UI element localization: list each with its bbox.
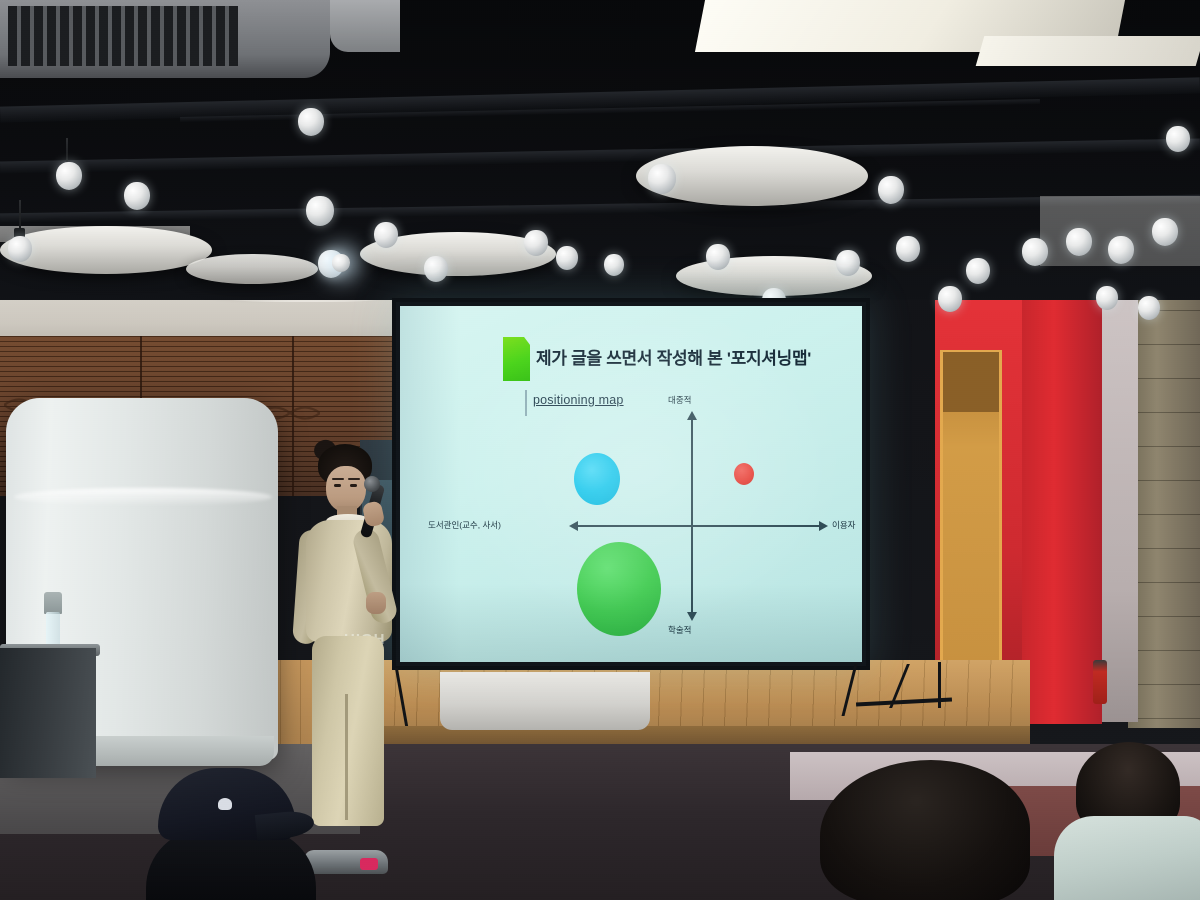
eyebrow (348, 478, 360, 480)
screen-leg (938, 662, 941, 708)
audience-cap-person (140, 768, 330, 900)
pendant-bulb (706, 244, 730, 270)
air-conditioner-vent (0, 0, 330, 78)
vertical-axis (691, 418, 693, 614)
pendant-bulb (896, 236, 920, 262)
pendant-bulb (524, 230, 548, 256)
pendant-bulb (424, 256, 448, 282)
slide-subtitle: positioning map (533, 393, 624, 407)
pendant-bulb (1138, 296, 1160, 320)
shoe-accent (360, 858, 378, 870)
data-bubble-cyan (574, 453, 620, 505)
pendant-bulb (556, 246, 578, 270)
eye (334, 484, 341, 487)
bottle-body (46, 612, 60, 648)
projection-screen: 제가 글을 쓰면서 작성해 본 '포지셔닝맵' positioning map … (392, 298, 870, 670)
ceiling-duct (330, 0, 400, 52)
pendant-bulb (124, 182, 150, 210)
pendant-bulb (1152, 218, 1178, 246)
pendant-bulb (604, 254, 624, 276)
podium-highlight (14, 488, 272, 506)
slide-title: 제가 글을 쓰면서 작성해 본 '포지셔닝맵' (536, 344, 811, 369)
pants-seam (345, 694, 348, 820)
audience-fleece-person (1058, 742, 1200, 900)
pendant-bulb (966, 258, 990, 284)
arrow-up-icon (687, 411, 697, 420)
dark-lectern (0, 648, 96, 778)
screen-surface: 제가 글을 쓰면서 작성해 본 '포지셔닝맵' positioning map … (400, 306, 862, 662)
axis-label-bottom: 학술적 (668, 624, 691, 636)
pendant-bulb (374, 222, 398, 248)
pendant-cord (66, 138, 68, 164)
photo-scene: 제가 글을 쓰면서 작성해 본 '포지셔닝맵' positioning map … (0, 0, 1200, 900)
audience-hair (820, 760, 1030, 900)
red-wall-block (1022, 284, 1102, 724)
arrow-right-icon (819, 521, 828, 531)
bottle-cap (44, 592, 62, 614)
fire-extinguisher (1093, 660, 1107, 704)
pendant-bulb (1096, 286, 1118, 310)
pendant-bulb (648, 164, 676, 194)
horizontal-axis (576, 525, 819, 527)
arrow-left-icon (569, 521, 578, 531)
pendant-bulb (938, 286, 962, 312)
microphone-head (364, 476, 380, 492)
data-bubble-green (577, 542, 661, 636)
ac-grill (8, 6, 238, 66)
green-marker-icon (503, 337, 530, 381)
pendant-bulb-lit (332, 254, 350, 272)
pendant-bulb (878, 176, 904, 204)
eye (350, 484, 357, 487)
pendant-bulb (8, 236, 32, 262)
cap-logo-icon (218, 798, 232, 810)
fleece-jacket (1054, 816, 1200, 900)
screen-shadow (400, 306, 460, 662)
pendant-bulb (56, 162, 82, 190)
pendant-bulb (1022, 238, 1048, 266)
pendant-bulb (1108, 236, 1134, 264)
arrow-down-icon (687, 612, 697, 621)
pendant-bulb (1166, 126, 1190, 152)
axis-label-top: 대중적 (668, 394, 691, 406)
pendant-bulb (306, 196, 334, 226)
pendant-bulb (298, 108, 324, 136)
pendant-bulb (1066, 228, 1092, 256)
cap-brim (255, 809, 315, 841)
pendant-bulb (836, 250, 860, 276)
slide-content: 제가 글을 쓰면서 작성해 본 '포지셔닝맵' positioning map … (400, 306, 862, 662)
corridor-gap (1100, 282, 1138, 722)
data-bubble-red (734, 463, 754, 485)
ceiling-light-band (976, 36, 1200, 66)
water-bottle (44, 592, 62, 648)
audience-long-hair-person (820, 760, 1040, 900)
disc-ceiling-light (186, 254, 318, 284)
axis-label-right: 이용자 (832, 519, 855, 531)
left-hand (366, 592, 386, 614)
alcove-shadow (943, 352, 999, 412)
podium-base (74, 736, 274, 766)
pendant-cord (19, 200, 21, 230)
eyebrow (332, 478, 344, 480)
screen-roller-case (440, 672, 650, 730)
subtitle-rule (525, 390, 527, 416)
